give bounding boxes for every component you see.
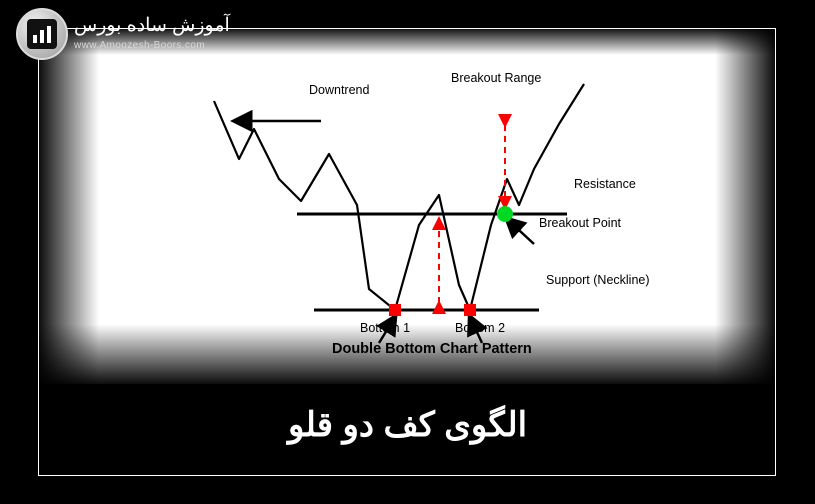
label-bottom1: Bottom 1 (360, 321, 410, 335)
diagram-title: Double Bottom Chart Pattern (332, 341, 532, 357)
breakout-point-marker (497, 206, 513, 222)
label-support: Support (Neckline) (546, 273, 650, 287)
screenshot-root: آموزش ساده بورس www.Amoozesh-Boors.com (0, 0, 815, 504)
footer-title-fa: الگوی کف دو قلو (0, 405, 815, 445)
breakout-point-arrow (507, 219, 534, 244)
label-breakout-point: Breakout Point (539, 216, 621, 230)
label-bottom2: Bottom 2 (455, 321, 505, 335)
price-line (214, 84, 584, 310)
label-resistance: Resistance (574, 177, 636, 191)
label-breakout-range: Breakout Range (451, 71, 541, 85)
label-downtrend: Downtrend (309, 83, 369, 97)
bottom1-marker (389, 304, 401, 316)
bottom2-marker (464, 304, 476, 316)
